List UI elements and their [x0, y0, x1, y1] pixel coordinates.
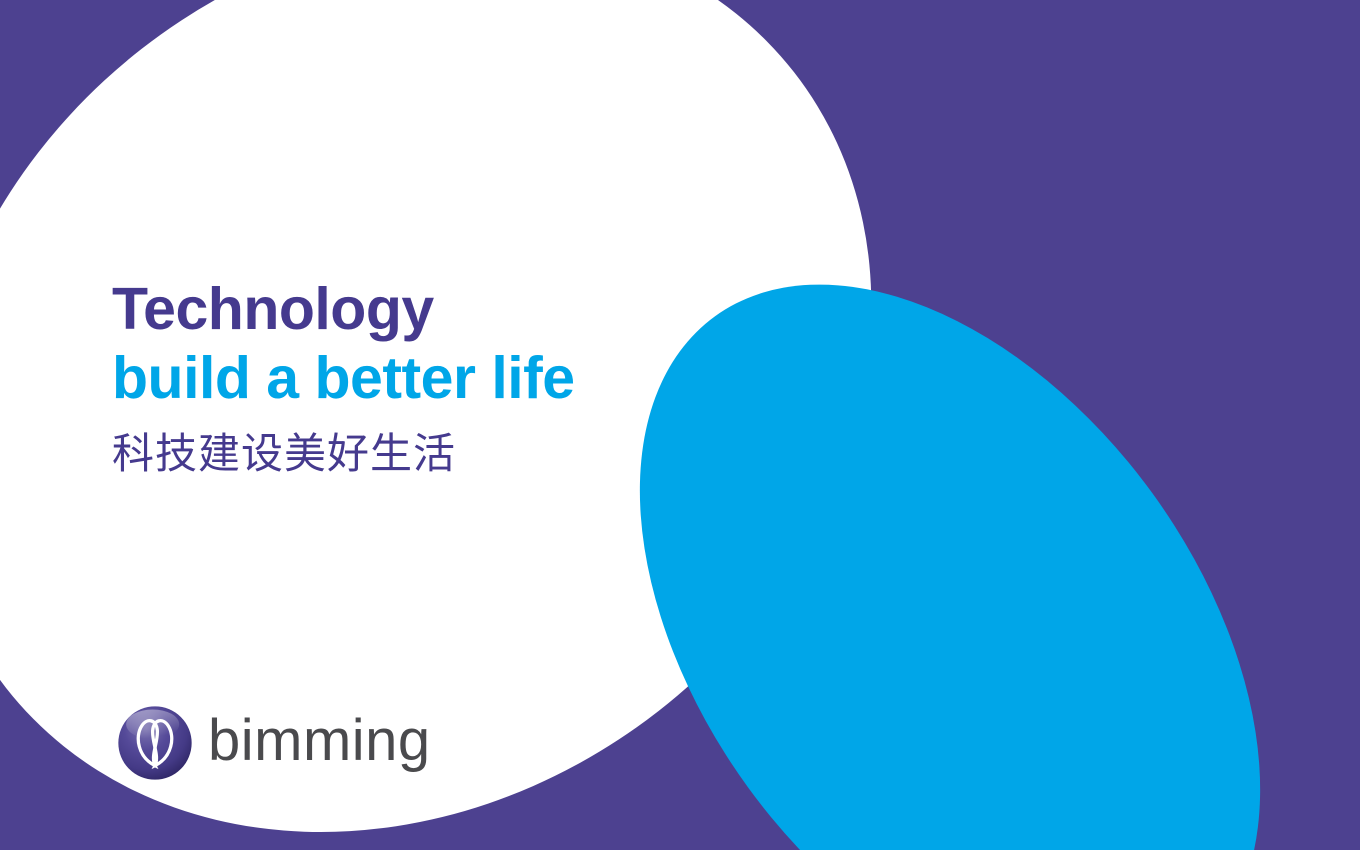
logo-wordmark: bimming	[208, 712, 431, 774]
bimming-loop-emblem-icon	[116, 704, 194, 782]
logo-lockup: bimming	[116, 704, 431, 782]
headline-line-1: Technology	[112, 276, 732, 343]
headline-line-chinese: 科技建设美好生活	[112, 431, 732, 477]
headline-block: Technology build a better life 科技建设美好生活	[112, 276, 732, 477]
presentation-slide: Technology build a better life 科技建设美好生活	[0, 0, 1360, 850]
headline-line-2: build a better life	[112, 343, 732, 413]
